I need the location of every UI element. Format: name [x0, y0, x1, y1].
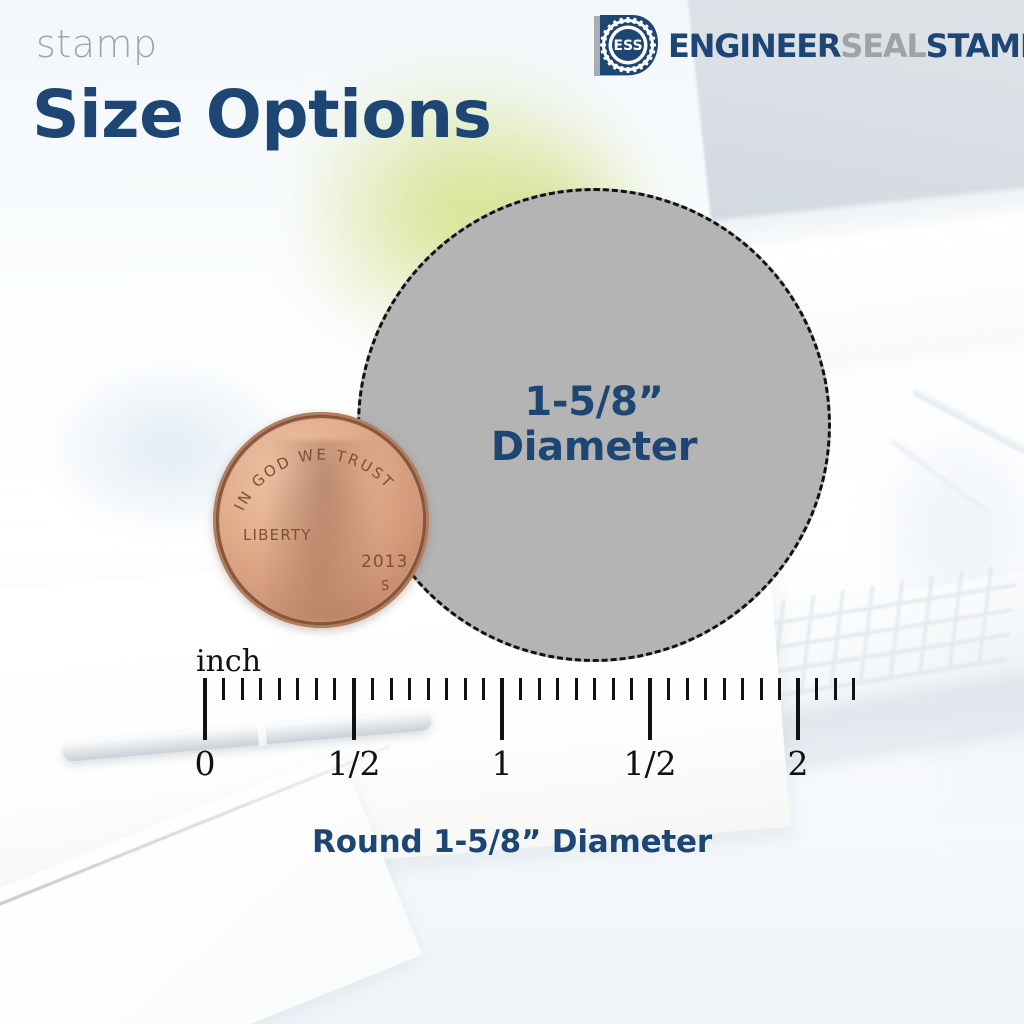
- ruler-tick-minor: [259, 678, 262, 700]
- stamp-size-unit: Diameter: [491, 425, 697, 470]
- ruler-tick-minor: [333, 678, 336, 700]
- ruler-tick-minor: [723, 678, 726, 700]
- stamp-size-options-graphic: stamp Size Options: [0, 0, 1024, 1024]
- ruler-tick-minor: [408, 678, 411, 700]
- ruler-tick-minor: [538, 678, 541, 700]
- ruler-tick-major: [648, 678, 652, 740]
- penny-liberty-text: LIBERTY: [243, 526, 312, 544]
- ruler-tick-major: [203, 678, 207, 740]
- ruler-tick-minor: [630, 678, 633, 700]
- penny-mintmark-text: S: [381, 579, 389, 594]
- ruler-tick-minor: [371, 678, 374, 700]
- ruler-tick-minor: [575, 678, 578, 700]
- eyebrow-label: stamp: [36, 22, 158, 66]
- ruler-tick-minor: [852, 678, 855, 700]
- ruler-number-label: 1/2: [623, 744, 676, 783]
- penny-motto-text: IN GOD WE TRUST: [231, 446, 399, 514]
- page-title: Size Options: [32, 82, 491, 148]
- ruler-number-label: 0: [195, 744, 216, 783]
- ruler-tick-minor: [704, 678, 707, 700]
- desk-highlight-right: [860, 420, 1024, 640]
- ruler-tick-major: [352, 678, 356, 740]
- ruler-tick-minor: [760, 678, 763, 700]
- ruler-tick-minor: [741, 678, 744, 700]
- ruler-tick-minor: [778, 678, 781, 700]
- size-caption: Round 1-5/8” Diameter: [0, 824, 1024, 860]
- ruler-tick-major: [500, 678, 504, 740]
- background-pen-right: [911, 385, 1024, 464]
- penny-year-text: 2013: [361, 552, 408, 572]
- brand-logo[interactable]: ESS: [588, 12, 1024, 80]
- ruler-tick-minor: [390, 678, 393, 700]
- ruler-tick-minor: [296, 678, 299, 700]
- ruler-tick-minor: [464, 678, 467, 700]
- brand-wordmark: ENGINEER SEAL STAMPS .COM: [668, 27, 1024, 65]
- ruler-number-label: 2: [788, 744, 809, 783]
- ruler-number-label: 1/2: [327, 744, 380, 783]
- ruler-tick-minor: [241, 678, 244, 700]
- ruler-tick-minor: [222, 678, 225, 700]
- ruler-tick-minor: [519, 678, 522, 700]
- svg-text:IN GOD WE TRUST: IN GOD WE TRUST: [231, 446, 399, 514]
- ruler-tick-minor: [482, 678, 485, 700]
- ruler-tick-minor: [686, 678, 689, 700]
- stamp-size-value: 1-5/8”: [524, 379, 663, 425]
- brand-word-engineer: ENGINEER: [668, 30, 840, 62]
- background-pen-right-2: [889, 435, 991, 512]
- ruler-tick-minor: [815, 678, 818, 700]
- inch-ruler: inch 01/211/22: [0, 640, 1024, 810]
- ruler-tick-minor: [315, 678, 318, 700]
- ruler-tick-minor: [612, 678, 615, 700]
- ruler-tick-minor: [278, 678, 281, 700]
- ruler-tick-minor: [593, 678, 596, 700]
- ruler-tick-minor: [667, 678, 670, 700]
- ess-badge-text: ESS: [613, 38, 642, 54]
- stamp-size-label: 1-5/8” Diameter: [491, 380, 697, 470]
- ruler-tick-minor: [556, 678, 559, 700]
- brand-word-seal: SEAL: [840, 30, 925, 62]
- brand-word-stamps: STAMPS: [926, 30, 1024, 62]
- ess-shield-icon: ESS: [588, 13, 660, 79]
- ruler-tick-minor: [427, 678, 430, 700]
- ruler-tick-minor: [445, 678, 448, 700]
- ruler-tick-major: [796, 678, 800, 740]
- penny-coin-reference: IN GOD WE TRUST LIBERTY 2013 S: [213, 412, 429, 628]
- ruler-unit-label: inch: [196, 644, 261, 679]
- ruler-tick-minor: [834, 678, 837, 700]
- ruler-number-label: 1: [492, 744, 513, 783]
